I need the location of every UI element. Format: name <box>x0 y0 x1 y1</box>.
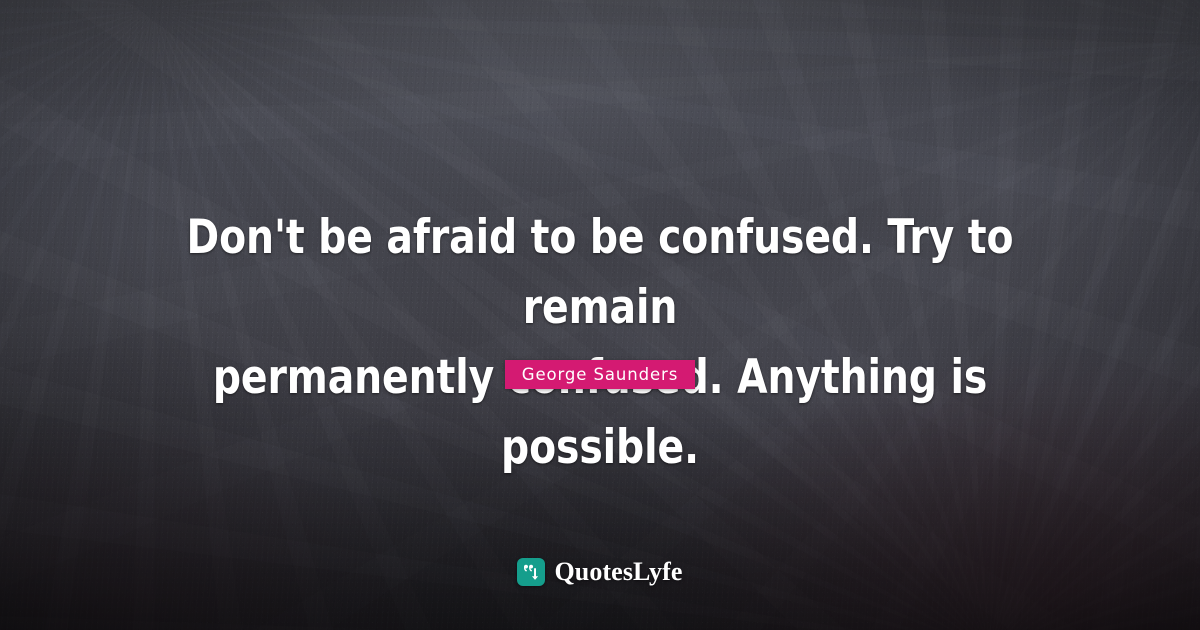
card-content: Don't be afraid to be confused. Try to r… <box>0 0 1200 630</box>
brand-watermark[interactable]: QuotesLyfe <box>0 557 1200 587</box>
author-row: George Saunders <box>0 360 1200 389</box>
quote-text: Don't be afraid to be confused. Try to r… <box>131 203 1068 483</box>
quote-block: Don't be afraid to be confused. Try to r… <box>0 203 1200 483</box>
author-name-badge[interactable]: George Saunders <box>505 360 695 389</box>
quote-mark-icon <box>517 558 545 586</box>
quote-card: Don't be afraid to be confused. Try to r… <box>0 0 1200 630</box>
brand-name: QuotesLyfe <box>554 557 682 587</box>
